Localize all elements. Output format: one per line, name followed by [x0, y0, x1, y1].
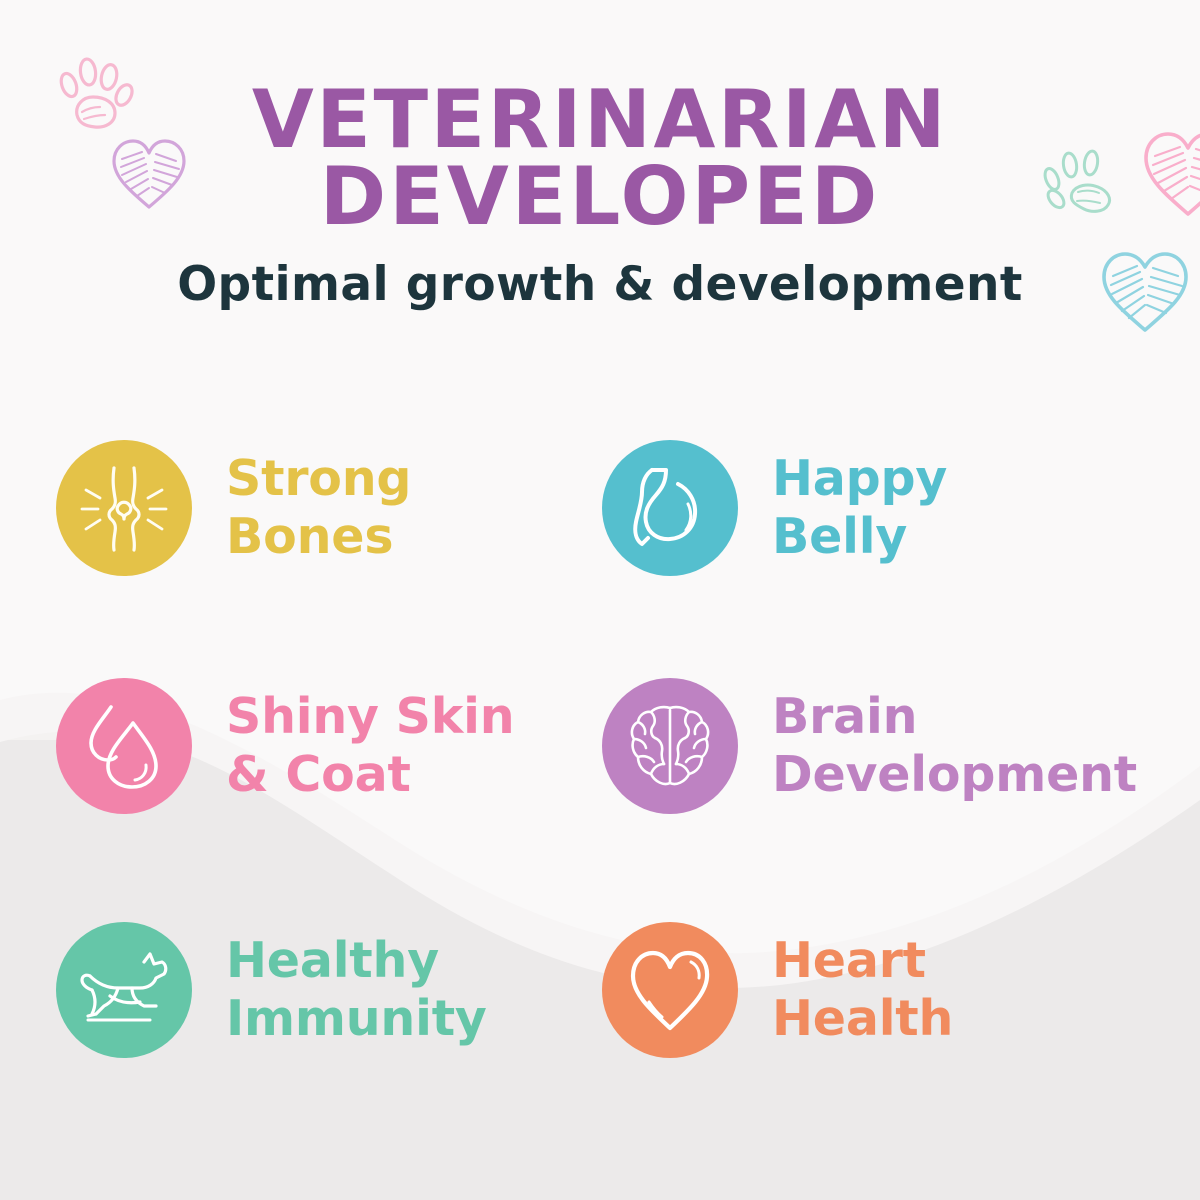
heart-outline-icon [602, 922, 738, 1058]
benefit-item-healthy-immunity: Healthy Immunity [56, 922, 487, 1058]
bone-joint-icon [56, 440, 192, 576]
headline-block: VETERINARIAN DEVELOPED Optimal growth & … [0, 82, 1200, 309]
infographic-poster: VETERINARIAN DEVELOPED Optimal growth & … [0, 0, 1200, 1200]
title-line-1: VETERINARIAN [0, 82, 1200, 159]
title-line-2: DEVELOPED [0, 159, 1200, 236]
page-subtitle: Optimal growth & development [0, 260, 1200, 309]
benefit-item-shiny-skin-and-coat: Shiny Skin & Coat [56, 678, 514, 814]
benefit-item-brain-development: Brain Development [602, 678, 1137, 814]
brain-icon [602, 678, 738, 814]
water-droplets-icon [56, 678, 192, 814]
stomach-icon [602, 440, 738, 576]
page-title: VETERINARIAN DEVELOPED [0, 82, 1200, 236]
benefit-label: Happy Belly [772, 450, 947, 566]
benefit-label: Shiny Skin & Coat [226, 688, 514, 804]
benefit-label: Strong Bones [226, 450, 411, 566]
benefit-item-strong-bones: Strong Bones [56, 440, 411, 576]
benefits-grid: Strong Bones Happy Belly [0, 440, 1200, 1100]
benefit-item-heart-health: Heart Health [602, 922, 953, 1058]
benefit-label: Brain Development [772, 688, 1137, 804]
benefit-label: Heart Health [772, 932, 953, 1048]
benefit-label: Healthy Immunity [226, 932, 487, 1048]
benefit-item-happy-belly: Happy Belly [602, 440, 947, 576]
running-dog-icon [56, 922, 192, 1058]
